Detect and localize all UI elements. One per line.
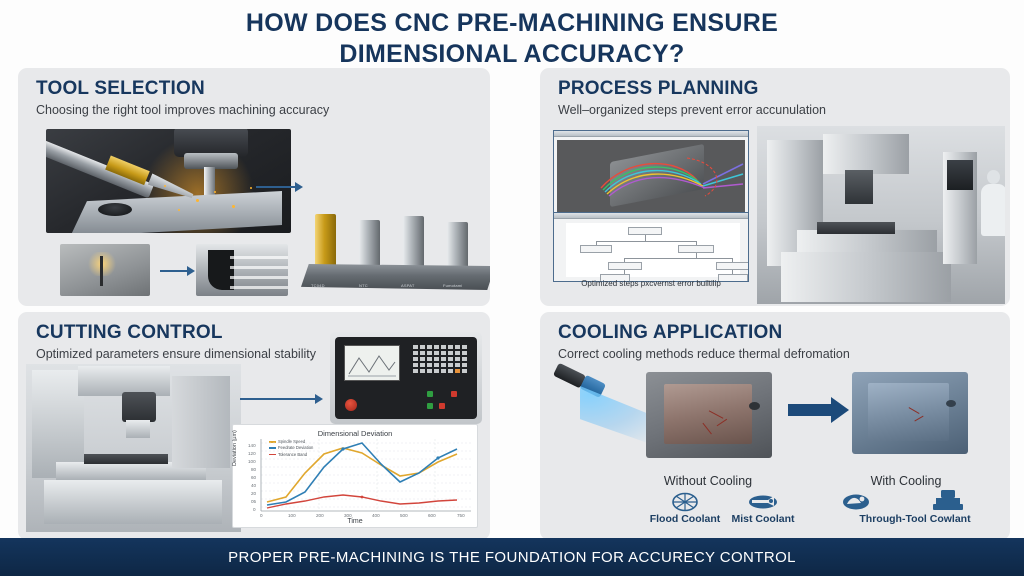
title-line-2: DIMENSIONAL ACCURACY? bbox=[0, 39, 1024, 70]
through-tool-coolant-label: Through-Tool Cowlant bbox=[820, 513, 1010, 525]
chart-plot bbox=[233, 425, 479, 529]
footer-banner: PROPER PRE-MACHINING IS THE FOUNDATION F… bbox=[0, 538, 1024, 576]
flow-node-mid-right bbox=[716, 262, 749, 270]
mist-coolant-label: Mist Coolant bbox=[700, 513, 826, 525]
cycle-stop-button[interactable] bbox=[439, 403, 445, 409]
title-line-1: HOW DOES CNC PRE-MACHINING ENSURE bbox=[0, 8, 1024, 39]
process-flowchart-window: ✓ ✓ bbox=[553, 212, 749, 282]
cam-software-window bbox=[553, 130, 749, 218]
power-off-button[interactable] bbox=[451, 391, 457, 397]
ytick-2: 20 bbox=[251, 491, 256, 496]
cnc-machine-photo bbox=[757, 126, 1005, 304]
detail-arrow bbox=[160, 270, 188, 272]
flow-node-mid-left bbox=[608, 262, 642, 270]
pendant-graph bbox=[345, 346, 399, 380]
toolpath-svg bbox=[557, 140, 747, 214]
tool-rack-arrow bbox=[256, 186, 296, 188]
power-on-button[interactable] bbox=[427, 391, 433, 397]
tool-selection-subtitle: Choosing the right tool improves machini… bbox=[18, 100, 348, 118]
ytick-6: 100 bbox=[248, 459, 256, 464]
pendant-body bbox=[335, 337, 477, 419]
xtick-7: 750 bbox=[457, 513, 465, 518]
flowchart-canvas: ✓ ✓ bbox=[566, 223, 740, 277]
edge-detail-photo bbox=[196, 244, 288, 296]
ytick-0: 0 bbox=[253, 507, 256, 512]
rack-label-0: TC04D bbox=[311, 283, 325, 288]
footer-text: PROPER PRE-MACHINING IS THE FOUNDATION F… bbox=[228, 549, 796, 566]
chart-flow-arrow bbox=[240, 398, 316, 400]
rack-label-3: Fumotami bbox=[443, 283, 462, 288]
page-title: HOW DOES CNC PRE-MACHINING ENSURE DIMENS… bbox=[0, 8, 1024, 69]
emergency-stop-button[interactable] bbox=[345, 399, 357, 411]
ytick-4: 60 bbox=[251, 475, 256, 480]
rack-label-1: NTC bbox=[359, 283, 368, 288]
ytick-3: 40 bbox=[251, 483, 256, 488]
vmc-machine-photo bbox=[26, 364, 241, 532]
xtick-6: 600 bbox=[428, 513, 436, 518]
cnc-control-pendant[interactable] bbox=[330, 332, 482, 424]
infographic-page: HOW DOES CNC PRE-MACHINING ENSURE DIMENS… bbox=[0, 0, 1024, 576]
process-planning-heading: PROCESS PLANNING bbox=[540, 68, 1010, 100]
xtick-5: 500 bbox=[400, 513, 408, 518]
flowchart-caption: Optimized steps pxcvernst error builtili… bbox=[553, 279, 749, 288]
ytick-8: 140 bbox=[248, 443, 256, 448]
coolant-nozzle bbox=[556, 360, 622, 390]
label-without-cooling: Without Cooling bbox=[628, 474, 788, 488]
cooling-application-heading: COOLING APPLICATION bbox=[540, 312, 1010, 344]
flow-node-left bbox=[580, 245, 612, 253]
ytick-5: 80 bbox=[251, 467, 256, 472]
xtick-1: 100 bbox=[288, 513, 296, 518]
ytick-1: 05 bbox=[251, 499, 256, 504]
ytick-7: 120 bbox=[248, 451, 256, 456]
milling-photo bbox=[46, 129, 291, 233]
xtick-2: 200 bbox=[316, 513, 324, 518]
xtick-4: 400 bbox=[372, 513, 380, 518]
flow-node-root bbox=[628, 227, 662, 235]
cam-window-titlebar bbox=[554, 131, 748, 137]
xtick-3: 300 bbox=[344, 513, 352, 518]
mold-block-without-cooling bbox=[646, 372, 772, 458]
label-with-cooling: With Cooling bbox=[836, 474, 976, 488]
flowchart-window-titlebar bbox=[554, 213, 748, 219]
cooling-transform-arrow bbox=[788, 404, 832, 416]
pendant-keypad[interactable] bbox=[413, 345, 469, 385]
spark-detail-photo bbox=[60, 244, 150, 296]
tool-rack: TC04D NTC ASPAT Fumotami bbox=[301, 198, 490, 290]
process-planning-subtitle: Well–organized steps prevent error accun… bbox=[540, 100, 870, 118]
panel-tool-selection: TOOL SELECTION Choosing the right tool i… bbox=[18, 68, 490, 306]
cutting-control-subtitle: Optimized parameters ensure dimensional … bbox=[18, 344, 348, 362]
cycle-start-button[interactable] bbox=[427, 403, 433, 409]
pendant-screen[interactable] bbox=[344, 345, 400, 381]
rack-label-2: ASPAT bbox=[401, 283, 415, 288]
flow-node-right bbox=[678, 245, 714, 253]
tool-selection-heading: TOOL SELECTION bbox=[18, 68, 490, 100]
deviation-chart: Dimensional Deviation Deviation (µm) Tim… bbox=[232, 424, 478, 528]
xtick-0: 0 bbox=[260, 513, 263, 518]
operator-head bbox=[987, 170, 1000, 184]
mold-block-with-cooling bbox=[852, 372, 968, 454]
operator-figure bbox=[981, 184, 1005, 236]
cam-viewport bbox=[557, 140, 745, 212]
